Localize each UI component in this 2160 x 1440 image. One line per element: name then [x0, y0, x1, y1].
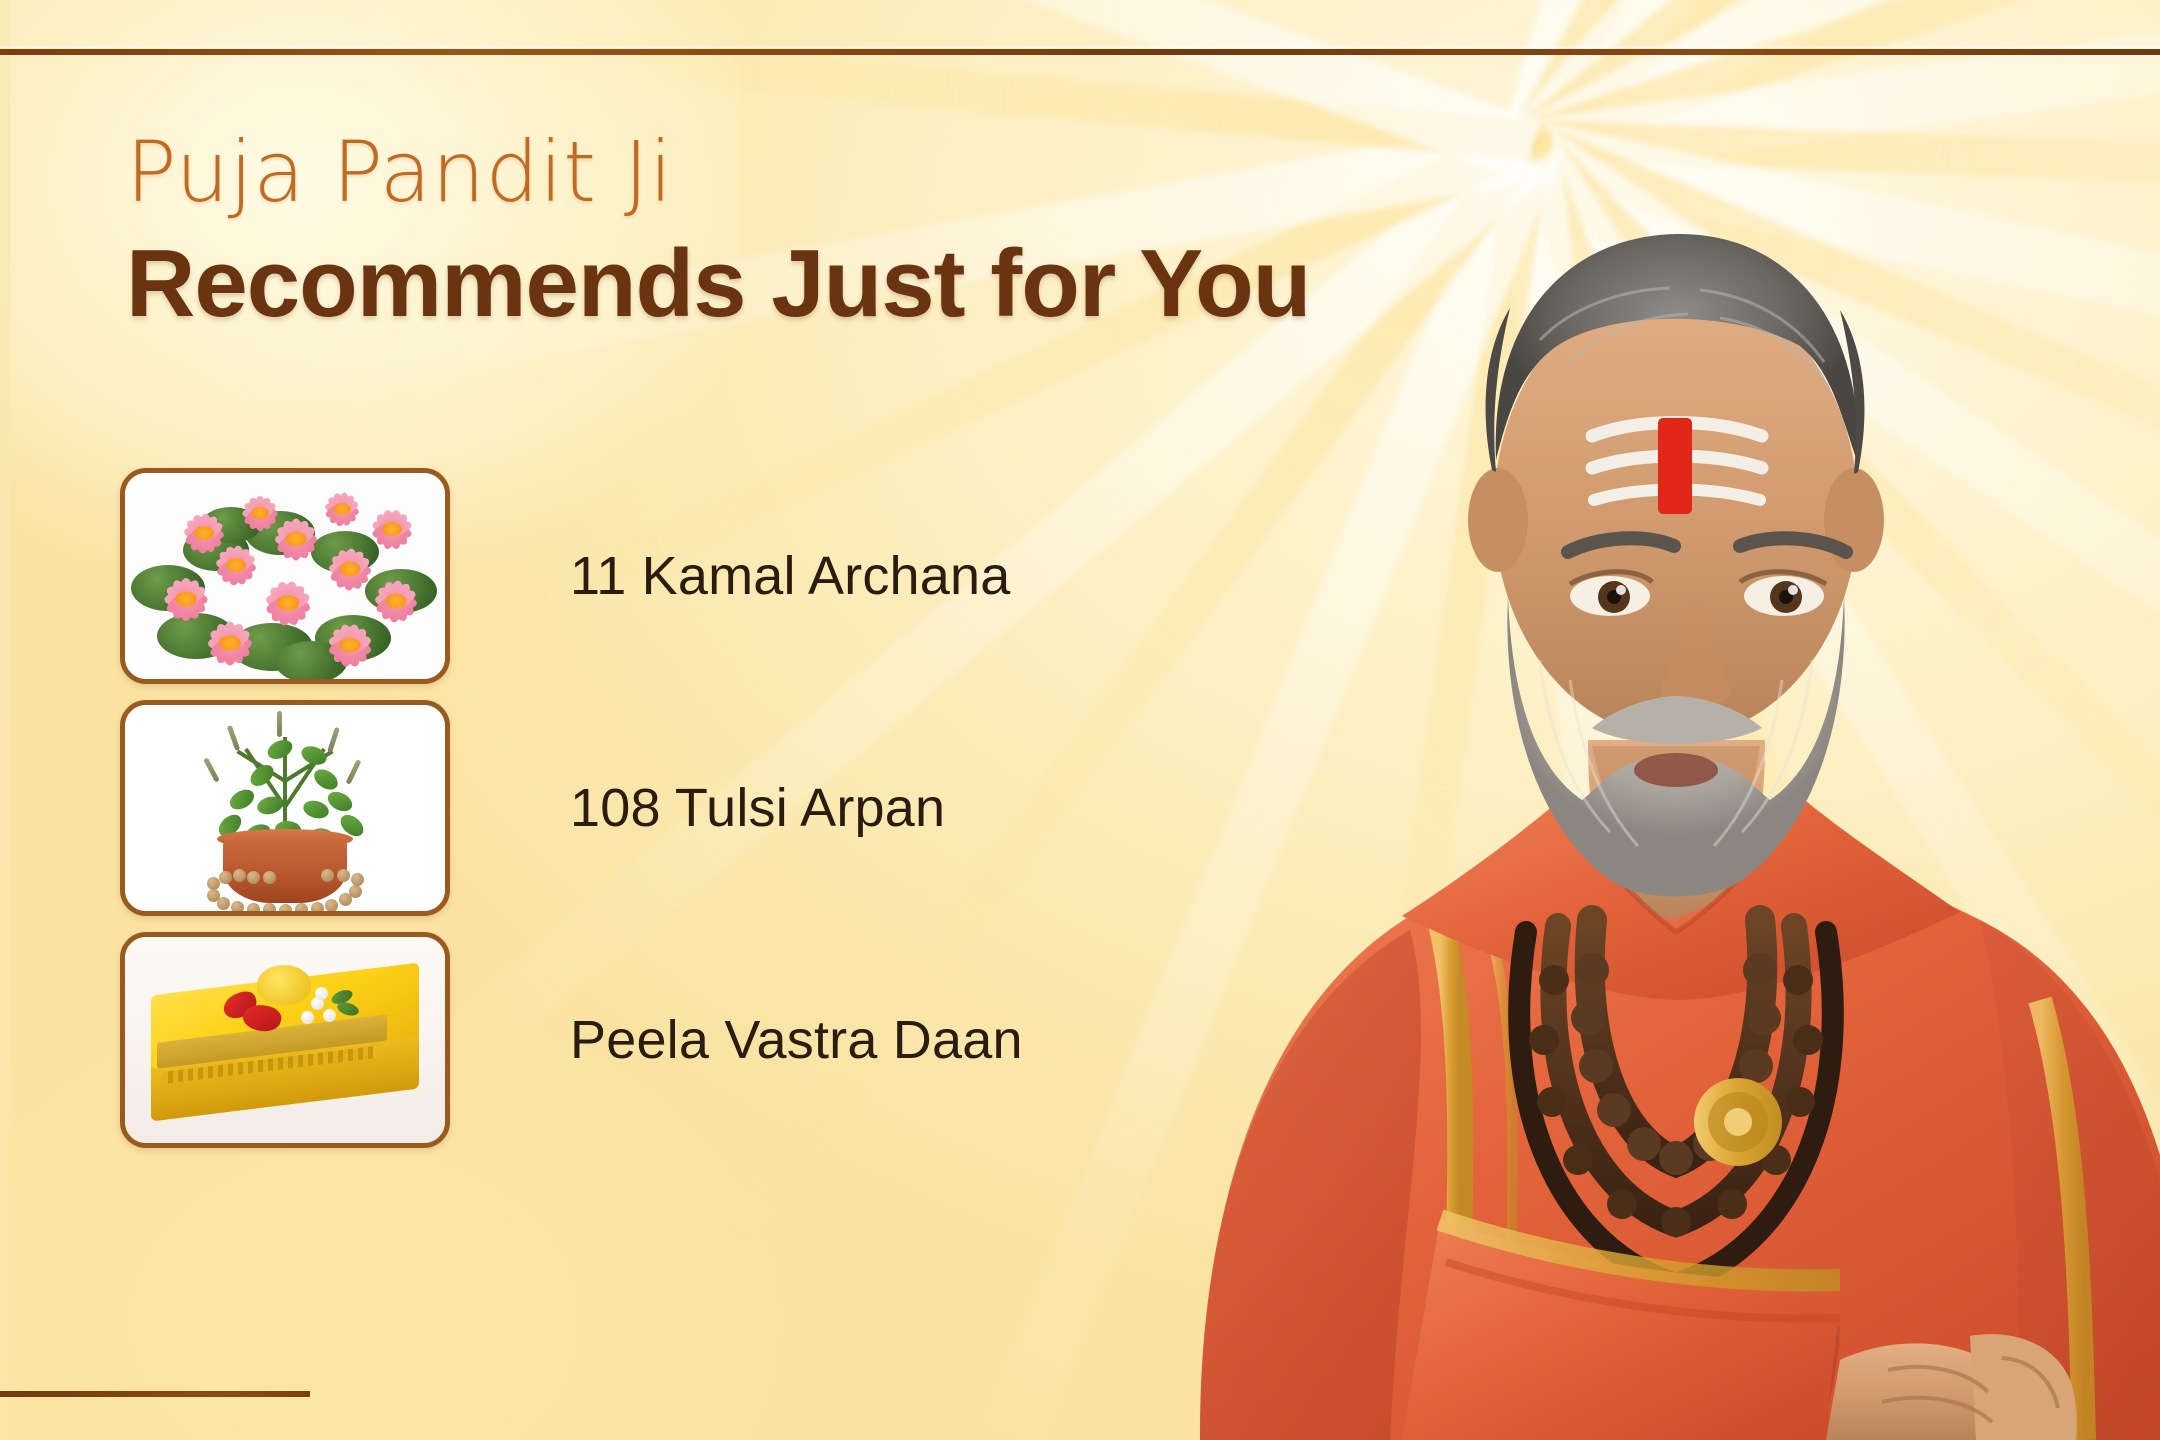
- recommendation-list: 11 Kamal Archana: [120, 460, 1120, 1156]
- tulsi-thumbnail[interactable]: [120, 700, 450, 916]
- yellow-cloth-icon: [125, 937, 445, 1143]
- list-item-label: 108 Tulsi Arpan: [570, 777, 945, 839]
- poster-canvas: Puja Pandit Ji Recommends Just for You: [0, 0, 2160, 1440]
- pandit-portrait-illustration: [1160, 40, 2160, 1440]
- list-item[interactable]: Peela Vastra Daan: [120, 924, 1120, 1156]
- tilak: [1592, 418, 1762, 514]
- list-item[interactable]: 108 Tulsi Arpan: [120, 692, 1120, 924]
- list-item-label: 11 Kamal Archana: [570, 545, 1010, 607]
- left-edge-strip: [0, 0, 10, 1440]
- rudraksha-beads-icon: [205, 869, 365, 909]
- yellow-cloth-thumbnail[interactable]: [120, 932, 450, 1148]
- list-item-label: Peela Vastra Daan: [570, 1009, 1023, 1071]
- bottom-border-line: [0, 1391, 310, 1397]
- tulsi-plant-icon: [125, 705, 445, 911]
- lotus-thumbnail[interactable]: [120, 468, 450, 684]
- list-divider: [120, 1248, 1040, 1251]
- list-item[interactable]: 11 Kamal Archana: [120, 460, 1120, 692]
- lotus-flowers-icon: [125, 473, 445, 679]
- pandit-portrait: [1160, 0, 2160, 1440]
